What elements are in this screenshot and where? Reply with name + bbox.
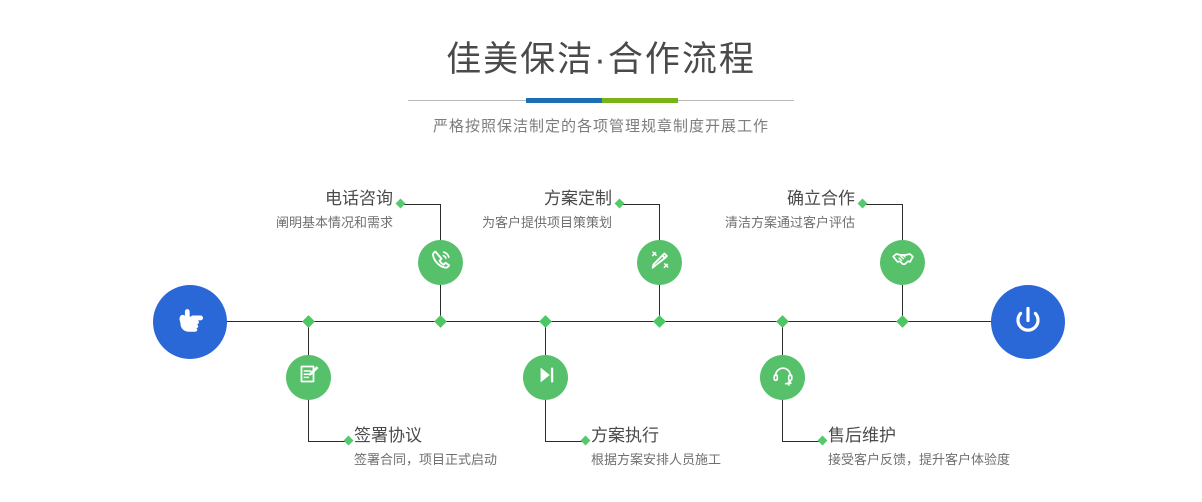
- handshake-icon: [890, 247, 916, 278]
- step-label-6: 售后维护 接受客户反馈，提升客户体验度: [828, 425, 1128, 470]
- divider-segment-green: [602, 98, 678, 103]
- axis-node-3: [653, 315, 666, 328]
- step-desc-6: 接受客户反馈，提升客户体验度: [828, 447, 1128, 470]
- step-icon-bubble-6: [760, 355, 805, 400]
- connector-arm-6: [782, 441, 822, 442]
- step-icon-bubble-2: [286, 355, 331, 400]
- timeline-start-node: [153, 285, 227, 359]
- pencil-design-icon: [647, 247, 673, 278]
- connector-endpoint-diamond-2: [344, 436, 354, 446]
- headset-support-icon: [770, 362, 796, 393]
- axis-node-5: [896, 315, 909, 328]
- timeline-end-node: [991, 285, 1065, 359]
- step-title-3: 方案定制: [355, 188, 612, 210]
- step-label-5: 确立合作 清洁方案通过客户评估: [600, 188, 855, 233]
- connector-endpoint-diamond-5: [858, 199, 868, 209]
- axis-node-6: [776, 315, 789, 328]
- phone-call-icon: [428, 247, 454, 278]
- axis-node-2: [302, 315, 315, 328]
- axis-node-4: [539, 315, 552, 328]
- process-flow-infographic: 佳美保洁·合作流程 严格按照保洁制定的各项管理规章制度开展工作: [0, 0, 1202, 502]
- divider-segment-blue: [526, 98, 602, 103]
- timeline-axis: [155, 321, 1047, 322]
- step-title-5: 确立合作: [600, 188, 855, 210]
- header: 佳美保洁·合作流程 严格按照保洁制定的各项管理规章制度开展工作: [0, 0, 1202, 136]
- page-title: 佳美保洁·合作流程: [0, 0, 1202, 82]
- connector-arm-5: [863, 204, 903, 205]
- title-divider: [408, 98, 794, 103]
- power-icon: [1008, 300, 1048, 345]
- step-label-3: 方案定制 为客户提供项目策策划: [355, 188, 612, 233]
- step-icon-bubble-5: [880, 240, 925, 285]
- document-edit-icon: [296, 362, 322, 393]
- step-icon-bubble-4: [523, 355, 568, 400]
- step-icon-bubble-3: [637, 240, 682, 285]
- play-execute-icon: [533, 362, 559, 393]
- pointing-hand-icon: [170, 300, 210, 345]
- page-subtitle: 严格按照保洁制定的各项管理规章制度开展工作: [0, 103, 1202, 136]
- step-desc-3: 为客户提供项目策策划: [355, 210, 612, 233]
- step-icon-bubble-1: [418, 240, 463, 285]
- step-desc-5: 清洁方案通过客户评估: [600, 210, 855, 233]
- axis-node-1: [434, 315, 447, 328]
- step-title-6: 售后维护: [828, 425, 1128, 447]
- connector-arm-2: [308, 441, 348, 442]
- connector-arm-4: [545, 441, 585, 442]
